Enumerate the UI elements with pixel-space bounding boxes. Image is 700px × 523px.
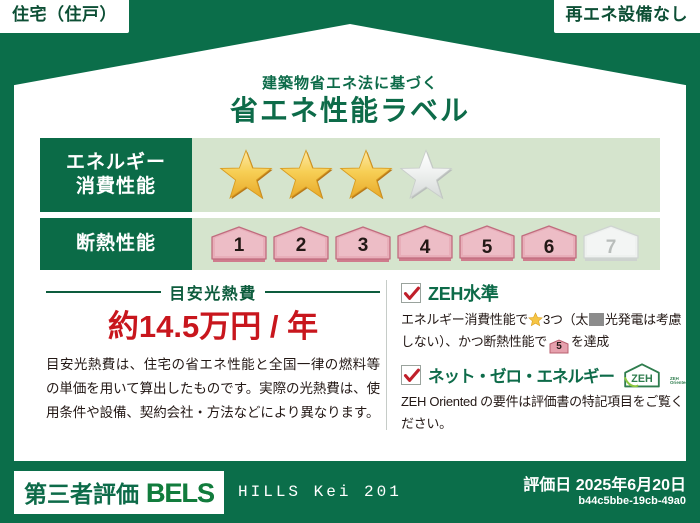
insulation-grade-badge: 3 bbox=[334, 226, 392, 260]
zeh-standard-title: ZEH水準 bbox=[428, 280, 499, 306]
insulation-grade-number: 7 bbox=[606, 237, 617, 259]
insulation-grade-badge: 4 bbox=[396, 225, 454, 262]
net-zero-energy-title: ネット・ゼロ・エネルギー bbox=[428, 363, 614, 387]
zeh-desc-part1: エネルギー消費性能で bbox=[401, 312, 528, 327]
net-zero-energy-description: ZEH Oriented の要件は評価書の特記項目をご覧ください。 bbox=[401, 391, 688, 436]
svg-text:ZEH: ZEH bbox=[631, 373, 652, 385]
insulation-grade-badge: 1 bbox=[210, 226, 268, 260]
insulation-grade-badge: 2 bbox=[272, 226, 330, 260]
evaluation-info: 評価日 2025年6月20日 b44c5bbe-19cb-49a0 bbox=[523, 476, 686, 509]
energy-performance-row: エネルギー 消費性能 bbox=[40, 138, 660, 212]
insulation-grade-number: 5 bbox=[482, 237, 493, 259]
zeh-standard-block: ZEH水準 エネルギー消費性能で3つ（太光発電は考慮しない）、かつ断熱性能で5を… bbox=[401, 280, 688, 354]
bels-badge: 第三者評価 BELS bbox=[14, 471, 224, 514]
bels-logo-text: BELS bbox=[146, 478, 214, 509]
insulation-grade-number: 4 bbox=[420, 237, 431, 259]
net-zero-energy-checkbox[interactable] bbox=[401, 365, 421, 385]
zeh-standard-description: エネルギー消費性能で3つ（太光発電は考慮しない）、かつ断熱性能で5を達成 bbox=[401, 309, 688, 354]
insulation-grade-scale: 1234567 bbox=[210, 225, 640, 262]
inline-grade-badge: 5 bbox=[549, 339, 569, 354]
check-icon bbox=[403, 367, 421, 385]
zeh-standard-checkbox[interactable] bbox=[401, 283, 421, 303]
star-filled-icon bbox=[338, 147, 394, 203]
lower-section: 目安光熱費 約14.5万円 / 年 目安光熱費は、住宅の省エネ性能と全国一律の燃… bbox=[38, 280, 662, 430]
energy-label-line2: 消費性能 bbox=[76, 175, 156, 199]
insulation-grade-number: 1 bbox=[234, 235, 245, 257]
utility-cost-note: 目安光熱費は、住宅の省エネ性能と全国一律の燃料等の単価を用いて算出したものです。… bbox=[46, 353, 380, 425]
zeh-logo-caption: ZEH Oriented bbox=[670, 377, 688, 388]
inline-grade-number: 5 bbox=[549, 339, 569, 355]
utility-cost-column: 目安光熱費 約14.5万円 / 年 目安光熱費は、住宅の省エネ性能と全国一律の燃… bbox=[38, 280, 386, 430]
renewable-equipment-badge: 再エネ設備なし bbox=[554, 0, 700, 33]
utility-cost-heading-text: 目安光熱費 bbox=[161, 280, 265, 304]
label-footer: 第三者評価 BELS HILLS Kei 201 評価日 2025年6月20日 … bbox=[0, 461, 700, 523]
zeh-logo-caption-line2: Oriented bbox=[670, 380, 688, 385]
energy-performance-label: エネルギー 消費性能 bbox=[40, 138, 192, 212]
check-icon bbox=[403, 285, 421, 303]
star-empty-icon bbox=[398, 147, 454, 203]
insulation-grade-badge: 6 bbox=[520, 225, 578, 262]
insulation-performance-label: 断熱性能 bbox=[40, 218, 192, 270]
redacted-character bbox=[589, 313, 604, 326]
insulation-grade-number: 3 bbox=[358, 235, 369, 257]
zeh-logo-icon: ZEH bbox=[622, 362, 662, 388]
energy-label-line1: エネルギー bbox=[66, 151, 166, 175]
heading-rule-left bbox=[46, 291, 161, 293]
insulation-performance-row: 断熱性能 1234567 bbox=[40, 218, 660, 270]
star-filled-icon bbox=[278, 147, 334, 203]
utility-cost-value: 約14.5万円 / 年 bbox=[46, 306, 380, 348]
star-filled-icon bbox=[218, 147, 274, 203]
insulation-grade-badge: 5 bbox=[458, 225, 516, 262]
title-subtitle: 建築物省エネ法に基づく bbox=[28, 76, 672, 93]
building-name: HILLS Kei 201 bbox=[238, 483, 402, 501]
evaluation-date: 評価日 2025年6月20日 bbox=[523, 476, 686, 496]
insulation-grade-number: 6 bbox=[544, 237, 555, 259]
label-sheet: 建築物省エネ法に基づく 省エネ性能ラベル エネルギー 消費性能 断熱性能 123… bbox=[14, 24, 686, 461]
evaluation-date-label: 評価日 bbox=[523, 477, 571, 494]
title-block: 建築物省エネ法に基づく 省エネ性能ラベル bbox=[28, 76, 672, 128]
net-zero-energy-block: ネット・ゼロ・エネルギー ZEH ZEH Oriented ZEH bbox=[401, 362, 688, 436]
net-zero-energy-header: ネット・ゼロ・エネルギー ZEH ZEH Oriented bbox=[401, 362, 688, 388]
zeh-desc-part2: 3つ（太 bbox=[543, 312, 588, 327]
zeh-desc-part4: を達成 bbox=[571, 334, 609, 349]
page-title: 省エネ性能ラベル bbox=[28, 93, 672, 128]
evaluation-id: b44c5bbe-19cb-49a0 bbox=[523, 495, 686, 508]
third-party-eval-text: 第三者評価 bbox=[24, 475, 139, 509]
insulation-grade-number: 2 bbox=[296, 235, 307, 257]
evaluation-date-value: 2025年6月20日 bbox=[576, 477, 686, 494]
star-rating bbox=[192, 138, 660, 212]
zeh-standard-header: ZEH水準 bbox=[401, 280, 688, 306]
insulation-label-text: 断熱性能 bbox=[76, 232, 156, 256]
star-icon bbox=[528, 312, 543, 327]
housing-type-badge: 住宅（住戸） bbox=[0, 0, 129, 33]
utility-cost-heading: 目安光熱費 bbox=[46, 280, 380, 304]
zeh-column: ZEH水準 エネルギー消費性能で3つ（太光発電は考慮しない）、かつ断熱性能で5を… bbox=[386, 280, 688, 430]
energy-performance-label: 住宅（住戸） 再エネ設備なし 建築物省エネ法に基づく 省エネ性能ラベル エネルギ… bbox=[0, 0, 700, 523]
heading-rule-right bbox=[265, 291, 380, 293]
insulation-grade-badge: 7 bbox=[582, 225, 640, 262]
